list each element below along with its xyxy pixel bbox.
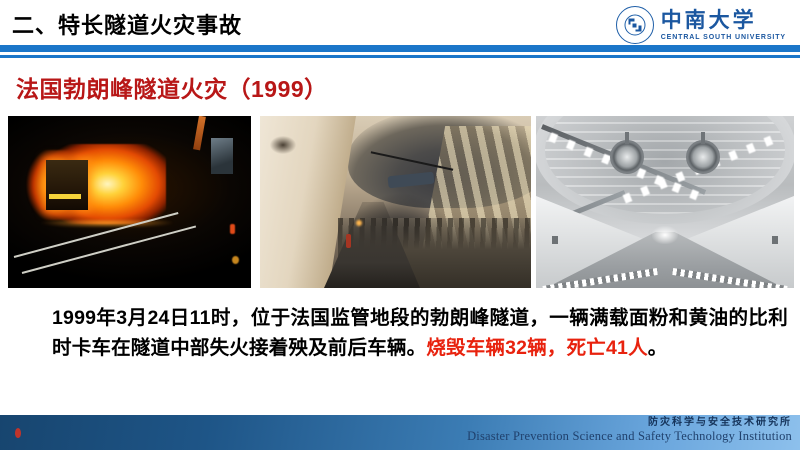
photo3-ventilation-fan-left: [610, 140, 644, 174]
footer-marker-icon: [15, 428, 21, 438]
photo1-ground-glow: [32, 220, 182, 227]
csu-emblem-icon: [616, 6, 654, 44]
photo3-ventilation-fan-right: [686, 140, 720, 174]
logo-text: 中南大学 CENTRAL SOUTH UNIVERSITY: [661, 9, 786, 41]
photo-restored-tunnel: [536, 116, 794, 288]
photo3-left-sign: [552, 236, 558, 244]
photo-strip: [8, 116, 794, 288]
photo3-vanishing-point: [652, 226, 678, 244]
photo-burning-truck: [8, 116, 251, 288]
body-highlight: 烧毁车辆32辆，死亡41人: [426, 337, 647, 359]
slide-footer: 防灾科学与安全技术研究所 Disaster Prevention Science…: [0, 415, 800, 450]
body-paragraph: 1999年3月24日11时，位于法国监管地段的勃朗峰隧道，一辆满载面粉和黄油的比…: [52, 304, 788, 363]
divider-thin: [0, 55, 800, 58]
logo-name-cn: 中南大学: [661, 9, 786, 30]
footer-institute-cn: 防灾科学与安全技术研究所: [467, 417, 792, 428]
footer-institute-en: Disaster Prevention Science and Safety T…: [467, 430, 792, 444]
section-subtitle: 法国勃朗峰隧道火灾（1999）: [16, 70, 328, 104]
body-segment-1: 1999年3月24日11时，位于法国监管地段的勃朗峰隧道，一辆满载面粉和黄油的比…: [52, 307, 788, 359]
slide: 二、特长隧道火灾事故 中南大学 CENTRAL SOUTH UNIVERSITY…: [0, 0, 800, 450]
university-logo: 中南大学 CENTRAL SOUTH UNIVERSITY: [616, 5, 786, 45]
divider-thick: [0, 45, 800, 52]
photo2-worker: [346, 234, 351, 248]
photo1-truck-body: [46, 160, 88, 210]
logo-name-en: CENTRAL SOUTH UNIVERSITY: [661, 34, 786, 41]
photo-damaged-tunnel: [260, 116, 531, 288]
photo1-wall-panel: [211, 138, 233, 174]
photo3-right-sign: [772, 236, 778, 244]
emblem-glyph: [628, 19, 641, 32]
slide-header: 二、特长隧道火灾事故 中南大学 CENTRAL SOUTH UNIVERSITY: [0, 0, 800, 46]
photo2-work-light: [356, 220, 362, 226]
photo1-ember-b: [232, 256, 239, 264]
photo1-ember-a: [230, 224, 235, 234]
footer-brand: 防灾科学与安全技术研究所 Disaster Prevention Science…: [467, 417, 792, 444]
body-segment-2: 。: [648, 337, 668, 359]
page-title: 二、特长隧道火灾事故: [12, 8, 242, 40]
